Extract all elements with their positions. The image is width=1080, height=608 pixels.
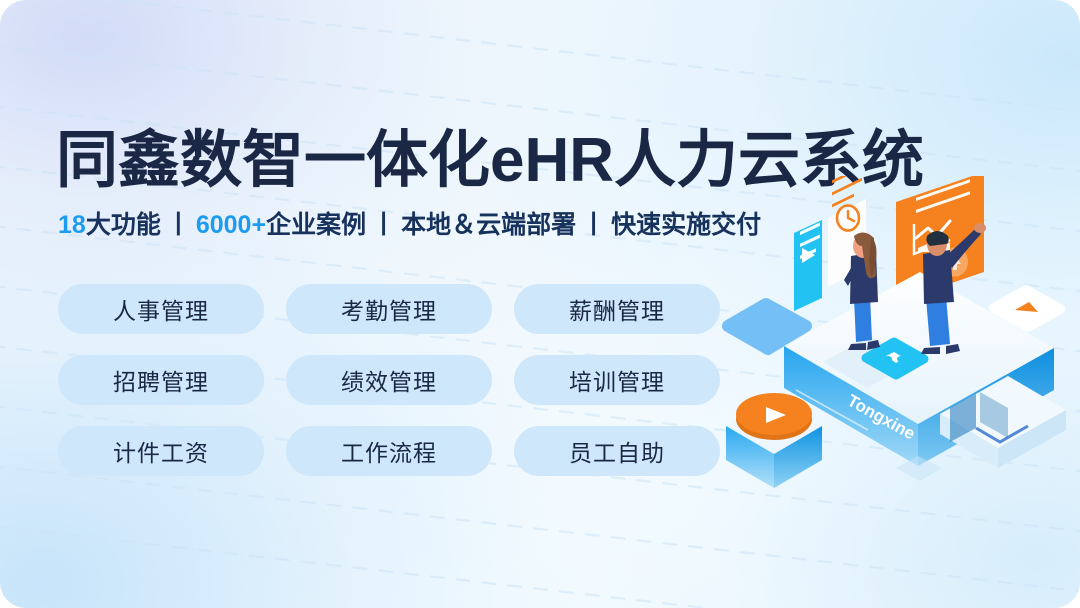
feature-pill-grid: 人事管理 考勤管理 薪酬管理 招聘管理 绩效管理 培训管理 计件工资 工作流程 … [58,284,720,476]
subtitle-separator-2: 丨 [371,211,396,239]
play-card-icon [794,220,822,311]
subtitle-text-deployment: 本地＆云端部署 [401,211,576,239]
feature-pill[interactable]: 计件工资 [58,426,264,476]
shadow-diamond-icon [896,456,942,481]
subtitle-number-cases: 6000+ [196,211,266,239]
feature-pill[interactable]: 招聘管理 [58,355,264,405]
subtitle-number-features: 18 [58,211,86,239]
banner-subtitle: 18大功能丨6000+企业案例丨本地＆云端部署丨快速实施交付 [58,208,761,242]
feature-pill[interactable]: 员工自助 [514,426,720,476]
subtitle-text-features: 大功能 [86,211,161,239]
feature-pill[interactable]: 薪酬管理 [514,284,720,334]
feature-pill[interactable]: 培训管理 [514,355,720,405]
promo-banner: 同鑫数智一体化eHR人力云系统 18大功能丨6000+企业案例丨本地＆云端部署丨… [0,0,1080,608]
orange-play-disc-icon [726,393,822,488]
feature-pill[interactable]: 工作流程 [286,426,492,476]
isometric-illustration: Tongxine [718,176,1080,516]
feature-pill[interactable]: 绩效管理 [286,355,492,405]
subtitle-text-cases: 企业案例 [266,211,366,239]
subtitle-separator-3: 丨 [581,211,606,239]
feature-pill[interactable]: 考勤管理 [286,284,492,334]
feature-pill[interactable]: 人事管理 [58,284,264,334]
subtitle-separator-1: 丨 [166,211,191,239]
